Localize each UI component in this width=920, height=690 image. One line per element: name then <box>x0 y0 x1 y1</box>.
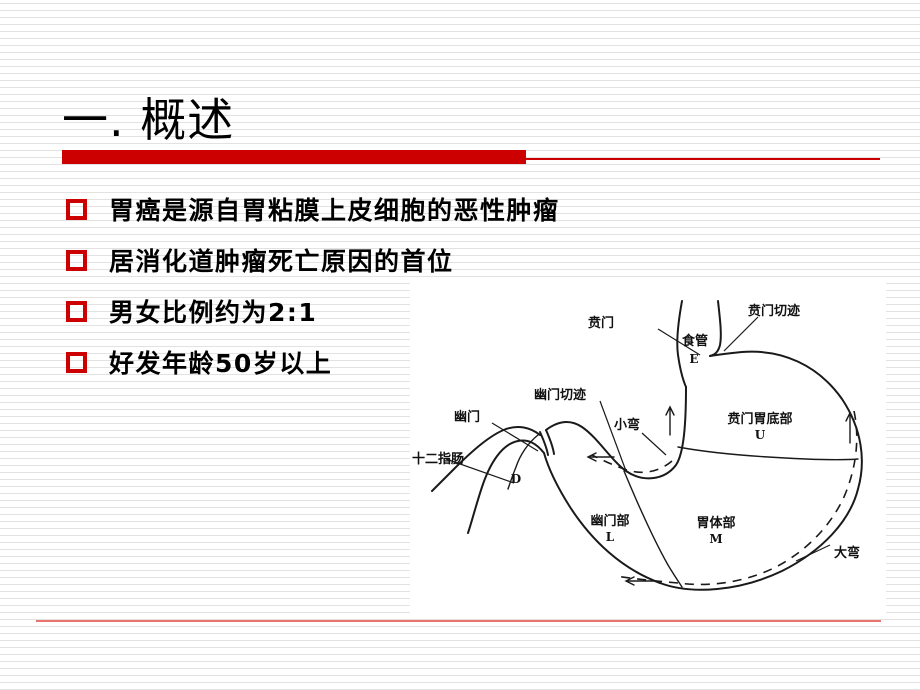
leader-lesser-curvature <box>642 433 666 455</box>
label-body-region: 胃体部 <box>696 515 735 531</box>
list-item: 居消化道肿瘤死亡原因的首位 <box>66 236 766 284</box>
square-bullet-icon <box>66 199 87 220</box>
square-bullet-icon <box>66 250 87 271</box>
label-pyloric-code: L <box>606 530 615 544</box>
page-title: 一. 概述 <box>62 92 234 148</box>
stomach-outline-group <box>432 301 862 590</box>
list-item-label: 居消化道肿瘤死亡原因的首位 <box>109 242 454 278</box>
fundus-body-divider <box>678 447 858 460</box>
label-greater-curvature: 大弯 <box>834 545 860 561</box>
label-lesser-curvature: 小弯 <box>614 417 640 433</box>
label-fundus-region: 贲门胃底部 <box>727 411 792 427</box>
leader-greater-curvature <box>796 545 830 561</box>
list-item: 胃癌是源自胃粘膜上皮细胞的恶性肿瘤 <box>66 185 766 233</box>
title-underline-thick <box>62 150 526 164</box>
greater-curvature-outline <box>660 489 858 590</box>
label-pyloric-region: 幽门部 <box>590 513 629 529</box>
list-item-label: 好发年龄50岁以上 <box>109 344 332 380</box>
flow-arrow-icon <box>846 413 854 443</box>
esophagus-right-wall <box>710 301 721 356</box>
figure-labels-group: 贲门 食管 E 贲门切迹 幽门切迹 小弯 幽门 十二指肠 D 贲门胃底部 U 胃… <box>412 303 860 561</box>
greater-curvature-dashed-path <box>678 411 857 584</box>
label-angular-notch: 幽门切迹 <box>534 387 586 403</box>
label-cardiac-notch: 贲门切迹 <box>748 303 800 319</box>
label-esophagus: 食管 <box>682 333 708 349</box>
label-body-code: M <box>709 532 722 546</box>
slide-canvas: 一. 概述 胃癌是源自胃粘膜上皮细胞的恶性肿瘤 居消化道肿瘤死亡原因的首位 男女… <box>0 0 920 690</box>
flow-arrow-icon <box>666 407 674 435</box>
duodenum-lower-wall <box>468 441 544 534</box>
label-pylorus: 幽门 <box>454 409 480 425</box>
label-duodenum: 十二指肠 <box>412 451 464 467</box>
footer-rule <box>36 620 881 622</box>
label-duodenum-code: D <box>511 472 521 486</box>
list-item-label: 胃癌是源自胃粘膜上皮细胞的恶性肿瘤 <box>109 191 560 227</box>
square-bullet-icon <box>66 352 87 373</box>
leader-cardiac-notch <box>724 317 758 351</box>
list-item-label: 男女比例约为2:1 <box>109 293 317 329</box>
label-esophagus-code: E <box>689 352 698 366</box>
square-bullet-icon <box>66 301 87 322</box>
label-cardia: 贲门 <box>588 315 614 331</box>
stomach-anatomy-figure: 贲门 食管 E 贲门切迹 幽门切迹 小弯 幽门 十二指肠 D 贲门胃底部 U 胃… <box>410 283 886 616</box>
label-fundus-code: U <box>755 428 766 442</box>
